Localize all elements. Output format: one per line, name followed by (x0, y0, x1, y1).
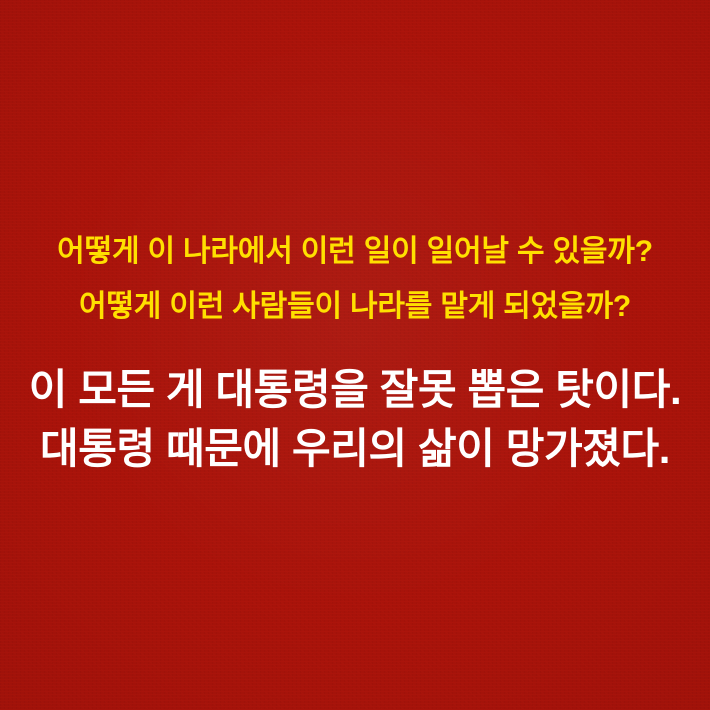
question-text-block: 어떻게 이 나라에서 이런 일이 일어날 수 있을까? 어떻게 이런 사람들이 … (0, 224, 710, 334)
card-content: 어떻게 이 나라에서 이런 일이 일어날 수 있을까? 어떻게 이런 사람들이 … (0, 0, 710, 478)
statement-text-block: 이 모든 게 대통령을 잘못 뽑은 탓이다. 대통령 때문에 우리의 삶이 망가… (0, 360, 710, 478)
quote-card: 어떻게 이 나라에서 이런 일이 일어날 수 있을까? 어떻게 이런 사람들이 … (0, 0, 710, 710)
question-line-1: 어떻게 이 나라에서 이런 일이 일어날 수 있을까? (0, 224, 710, 279)
question-line-2: 어떻게 이런 사람들이 나라를 맡게 되었을까? (0, 279, 710, 334)
statement-line-1: 이 모든 게 대통령을 잘못 뽑은 탓이다. (0, 360, 710, 419)
statement-line-2: 대통령 때문에 우리의 삶이 망가졌다. (0, 419, 710, 478)
